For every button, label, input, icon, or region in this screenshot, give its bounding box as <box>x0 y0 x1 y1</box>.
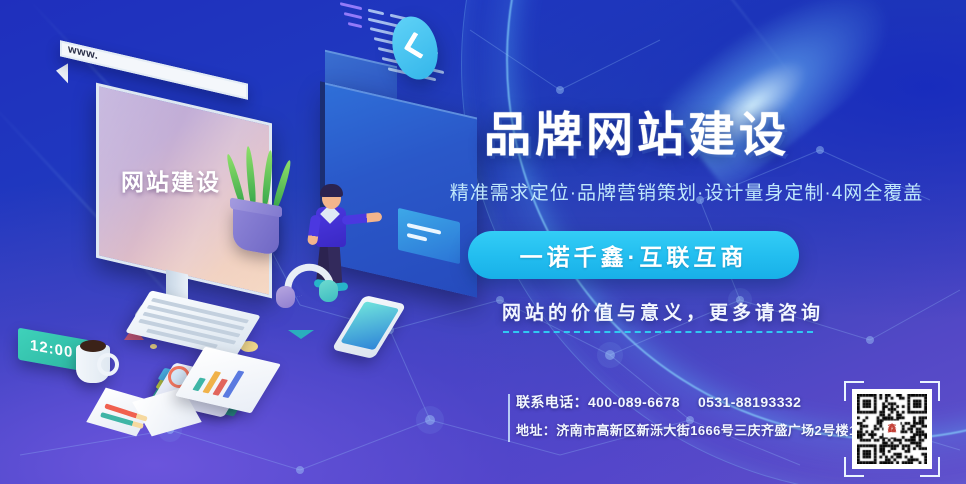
decor-dot-yellow <box>150 344 157 349</box>
chart-bar <box>222 370 244 398</box>
dashed-divider <box>503 331 813 333</box>
phone-label: 联系电话： <box>516 394 588 410</box>
headphone-earcup <box>276 286 295 308</box>
phone-primary[interactable]: 400-089-6678 <box>588 394 680 410</box>
plant-leaf <box>271 159 293 211</box>
monitor-screen: 网站建设 <box>96 83 272 299</box>
address-bar-text: www. <box>68 43 98 62</box>
banner-content: 品牌网站建设 精准需求定位·品牌营销策划·设计量身定制·4网全覆盖 一诺千鑫·互… <box>406 0 966 484</box>
banner-subtitle: 精准需求定位·品牌营销策划·设计量身定制·4网全覆盖 <box>414 178 959 205</box>
monitor-address-bar: www. <box>60 40 248 99</box>
desk-illustration: 网站建设 www. <box>0 0 470 484</box>
slogan-pill-button[interactable]: 一诺千鑫·互联互商 <box>468 231 799 279</box>
qr-code-block[interactable]: 鑫 <box>844 381 940 477</box>
address-value: 济南市高新区新泺大街1666号三庆齐盛广场2号楼1408 <box>556 423 879 438</box>
open-book <box>96 392 192 436</box>
person-hair <box>320 184 343 197</box>
headphones <box>276 264 338 312</box>
headphone-earcup <box>319 280 338 302</box>
decor-triangle-teal <box>288 330 314 339</box>
keyboard <box>125 290 261 358</box>
smartphone <box>332 295 407 359</box>
coffee-mug <box>76 345 110 383</box>
address-label: 地址： <box>516 423 556 438</box>
qr-code-image[interactable]: 鑫 <box>852 389 932 469</box>
banner-title: 品牌网站建设 <box>484 96 790 165</box>
banner-tagline: 网站的价值与意义，更多请咨询 <box>502 298 824 325</box>
contact-vertical-rule <box>508 394 510 442</box>
qr-logo-text: 鑫 <box>887 425 896 434</box>
marketing-banner: 网站建设 www. <box>0 0 966 484</box>
phone-secondary[interactable]: 0531-88193332 <box>698 394 801 410</box>
phone-screen <box>340 301 399 350</box>
address-bar-arrow <box>56 61 68 84</box>
clock-time: 12:00 <box>30 337 73 362</box>
qr-center-logo: 鑫 <box>884 421 901 438</box>
slogan-pill-label: 一诺千鑫·互联互商 <box>520 238 748 272</box>
monitor-screen-text: 网站建设 <box>121 163 221 197</box>
